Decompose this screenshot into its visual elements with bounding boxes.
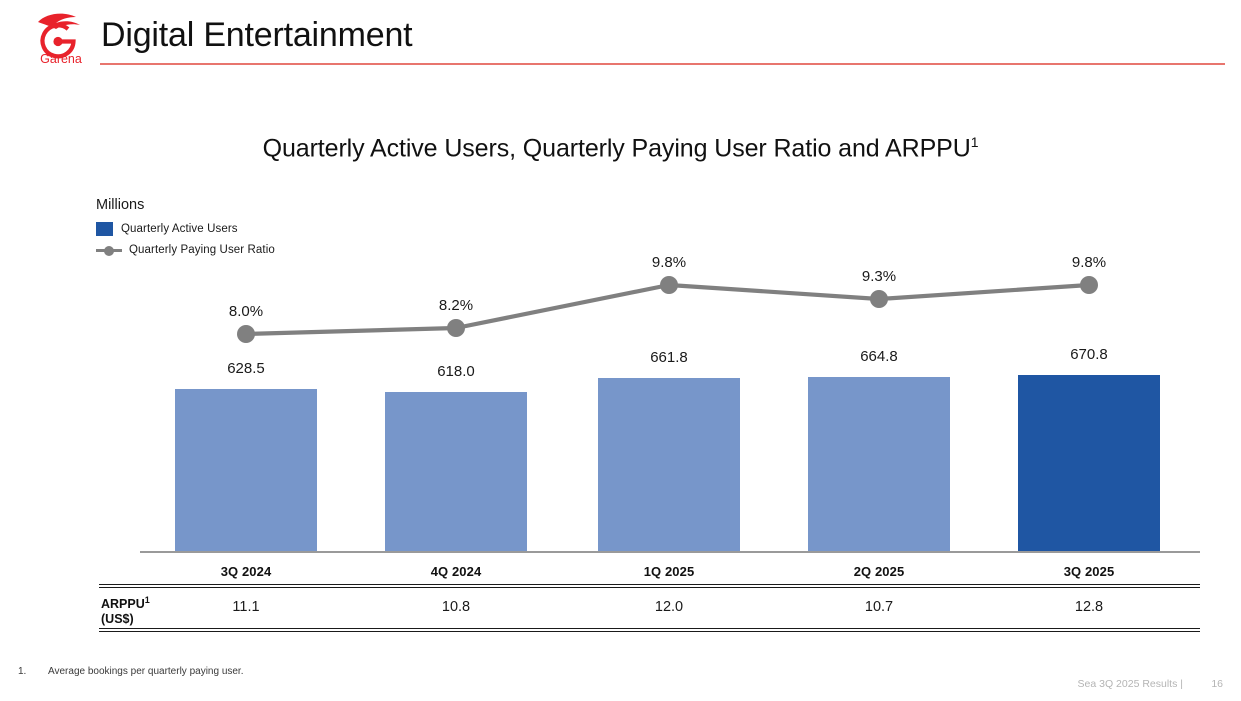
arppu-bottom-border — [99, 628, 1200, 629]
legend-label: Quarterly Paying User Ratio — [129, 244, 275, 256]
arppu-bottom-border-2 — [99, 631, 1200, 632]
slide: Garena Digital Entertainment Quarterly A… — [0, 0, 1241, 701]
chart-baseline-axis — [140, 551, 1200, 553]
arppu-cell-3q-2024: 11.1 — [175, 599, 317, 615]
category-label-4q-2024: 4Q 2024 — [385, 564, 527, 579]
footer-deck-label: Sea 3Q 2025 Results | — [1078, 678, 1183, 690]
ratio-value-label: 9.3% — [819, 268, 939, 285]
legend-item-quarterly-active-users: Quarterly Active Users — [96, 220, 275, 238]
ratio-value-label: 9.8% — [1029, 254, 1149, 271]
page-title: Digital Entertainment — [101, 12, 412, 58]
category-label-3q-2025: 3Q 2025 — [1018, 564, 1160, 579]
arppu-top-border-2 — [99, 587, 1200, 588]
arppu-top-border — [99, 584, 1200, 585]
legend-swatch-icon — [96, 222, 113, 236]
chart-legend: Quarterly Active Users Quarterly Paying … — [96, 220, 275, 262]
bar-4q-2024 — [385, 392, 527, 552]
bar-value-label: 618.0 — [385, 363, 527, 380]
category-label-1q-2025: 1Q 2025 — [598, 564, 740, 579]
svg-text:Garena: Garena — [40, 52, 82, 66]
arppu-cell-2q-2025: 10.7 — [808, 599, 950, 615]
category-label-2q-2025: 2Q 2025 — [808, 564, 950, 579]
bar-2q-2025 — [808, 377, 950, 552]
bar-value-label: 670.8 — [1018, 346, 1160, 363]
chart-title-footnote-marker: 1 — [971, 134, 979, 150]
units-label: Millions — [96, 197, 144, 213]
legend-item-quarterly-paying-user-ratio: Quarterly Paying User Ratio — [96, 241, 275, 259]
chart-title: Quarterly Active Users, Quarterly Paying… — [0, 134, 1241, 163]
header-underline — [100, 63, 1225, 65]
arppu-footnote-marker: 1 — [145, 595, 150, 605]
bar-3q-2024 — [175, 389, 317, 552]
footer-page-number: 16 — [1211, 678, 1223, 690]
arppu-cell-3q-2025: 12.8 — [1018, 599, 1160, 615]
arppu-table: ARPPU1 (US$) 11.1 10.8 12.0 10.7 12.8 — [99, 584, 1200, 632]
bar-3q-2025 — [1018, 375, 1160, 552]
ratio-value-label: 8.0% — [186, 303, 306, 320]
arppu-cell-4q-2024: 10.8 — [385, 599, 527, 615]
chart-title-text: Quarterly Active Users, Quarterly Paying… — [263, 134, 971, 162]
arppu-cell-1q-2025: 12.0 — [598, 599, 740, 615]
arppu-row-label: ARPPU1 (US$) — [101, 593, 150, 627]
arppu-label-line1: ARPPU — [101, 597, 145, 611]
footnote-number: 1. — [18, 666, 48, 677]
legend-line-marker-icon — [96, 243, 122, 257]
arppu-label-line2: (US$) — [101, 612, 134, 626]
bar-value-label: 664.8 — [808, 348, 950, 365]
footnote-text: Average bookings per quarterly paying us… — [48, 666, 244, 677]
footnote: 1.Average bookings per quarterly paying … — [18, 666, 244, 677]
ratio-value-label: 8.2% — [396, 297, 516, 314]
legend-label: Quarterly Active Users — [121, 223, 238, 235]
bar-value-label: 661.8 — [598, 349, 740, 366]
slide-header: Garena Digital Entertainment — [0, 0, 1241, 72]
bar-value-label: 628.5 — [175, 360, 317, 377]
category-label-3q-2024: 3Q 2024 — [175, 564, 317, 579]
garena-logo-icon: Garena — [28, 10, 96, 68]
ratio-value-label: 9.8% — [609, 254, 729, 271]
bar-1q-2025 — [598, 378, 740, 552]
